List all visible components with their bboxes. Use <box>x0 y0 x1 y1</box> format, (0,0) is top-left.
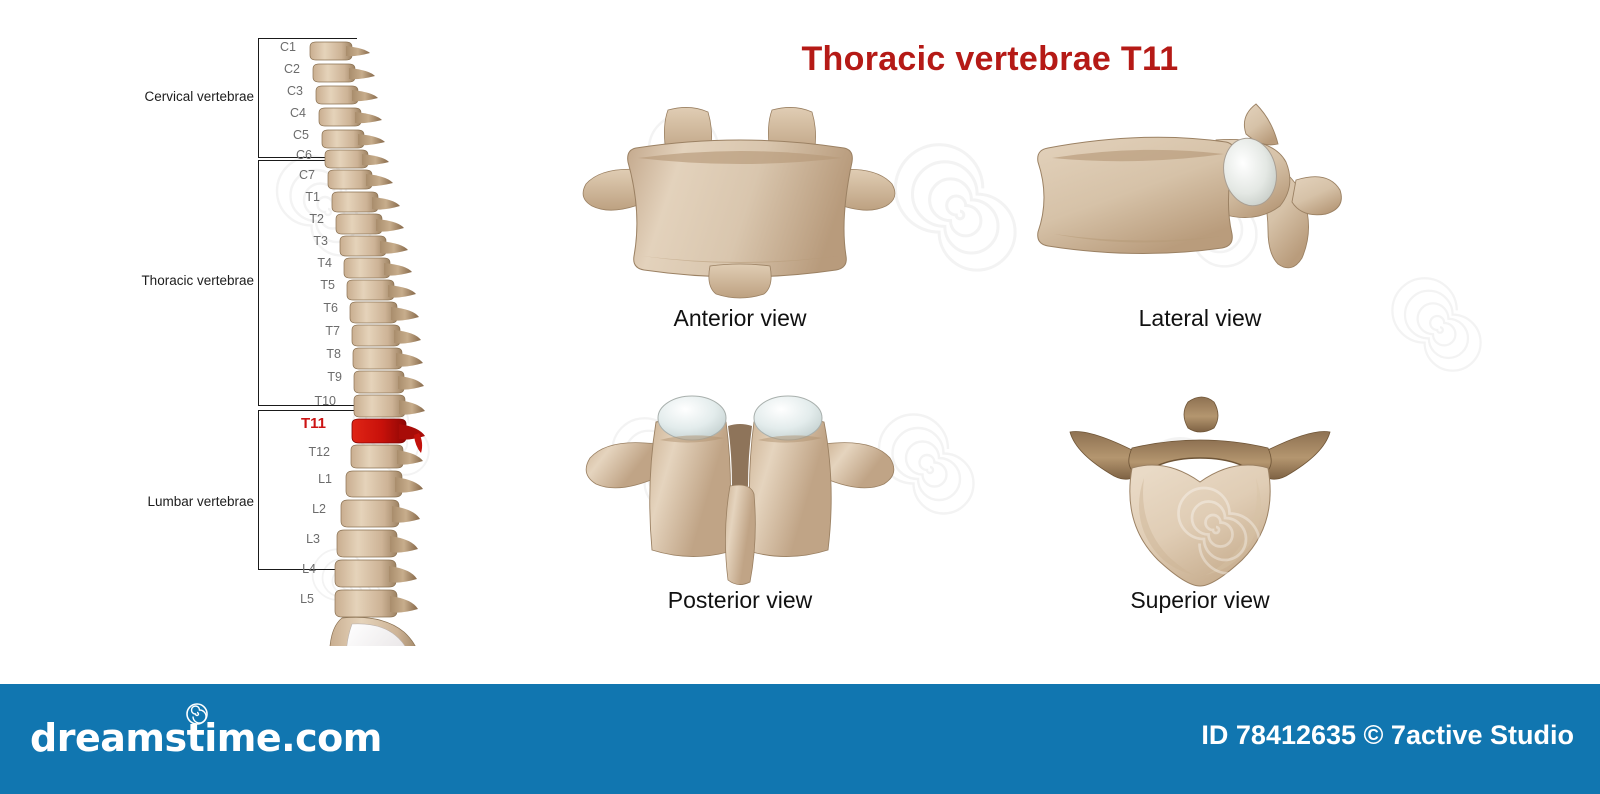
vertebra-label-t1: T1 <box>170 190 320 204</box>
view-anterior: Anterior view <box>560 100 920 350</box>
caption-lateral: Lateral view <box>1020 305 1380 332</box>
vertebra-label-t11: T11 <box>176 415 326 432</box>
vertebra-label-l3: L3 <box>170 532 320 546</box>
vertebra-label-t2: T2 <box>174 212 324 226</box>
vertebra-anterior-graphic <box>560 100 920 305</box>
illustration-canvas: Thoracic vertebrae T11 Cervical vertebra… <box>0 0 1600 794</box>
vertebra-label-l2: L2 <box>176 502 326 516</box>
vertebra-label-l4: L4 <box>166 562 316 576</box>
lumbar-segment <box>335 471 423 617</box>
thoracic-segment <box>332 192 425 468</box>
view-posterior: Posterior view <box>560 382 920 632</box>
vertebra-label-t9: T9 <box>192 370 342 384</box>
vertebra-label-t6: T6 <box>188 301 338 315</box>
page-title: Thoracic vertebrae T11 <box>780 40 1200 79</box>
view-lateral: Lateral view <box>1020 100 1380 350</box>
footer-bar: dreamstime.com ID 78412635 © 7active Stu… <box>0 684 1600 794</box>
sacrum-graphic <box>330 617 420 646</box>
spine-diagram: Cervical vertebrae Thoracic vertebrae Lu… <box>120 26 450 646</box>
cervical-segment <box>310 42 393 189</box>
vertebra-label-t12: T12 <box>180 445 330 459</box>
vertebra-label-c1: C1 <box>146 40 296 54</box>
vertebra-lateral-graphic <box>1020 100 1380 305</box>
vertebra-label-c4: C4 <box>156 106 306 120</box>
view-superior: Superior view <box>1020 382 1380 632</box>
vertebra-superior-graphic <box>1020 382 1380 587</box>
vertebra-label-l5: L5 <box>164 592 314 606</box>
vertebra-label-l1: L1 <box>182 472 332 486</box>
caption-superior: Superior view <box>1020 587 1380 614</box>
vertebra-label-t3: T3 <box>178 234 328 248</box>
vertebra-posterior-graphic <box>560 382 920 587</box>
vertebra-label-c6: C6 <box>162 148 312 162</box>
vertebra-label-t4: T4 <box>182 256 332 270</box>
caption-posterior: Posterior view <box>560 587 920 614</box>
vertebra-label-c3: C3 <box>153 84 303 98</box>
vertebra-label-c5: C5 <box>159 128 309 142</box>
vertebra-label-t5: T5 <box>185 278 335 292</box>
dreamstime-spiral-icon <box>185 702 209 726</box>
vertebra-label-t10: T10 <box>186 394 336 408</box>
vertebra-label-t8: T8 <box>191 347 341 361</box>
image-credit: ID 78412635 © 7active Studio <box>1201 720 1574 751</box>
vertebra-label-c2: C2 <box>150 62 300 76</box>
caption-anterior: Anterior view <box>560 305 920 332</box>
vertebra-label-t7: T7 <box>190 324 340 338</box>
vertebra-label-c7: C7 <box>165 168 315 182</box>
